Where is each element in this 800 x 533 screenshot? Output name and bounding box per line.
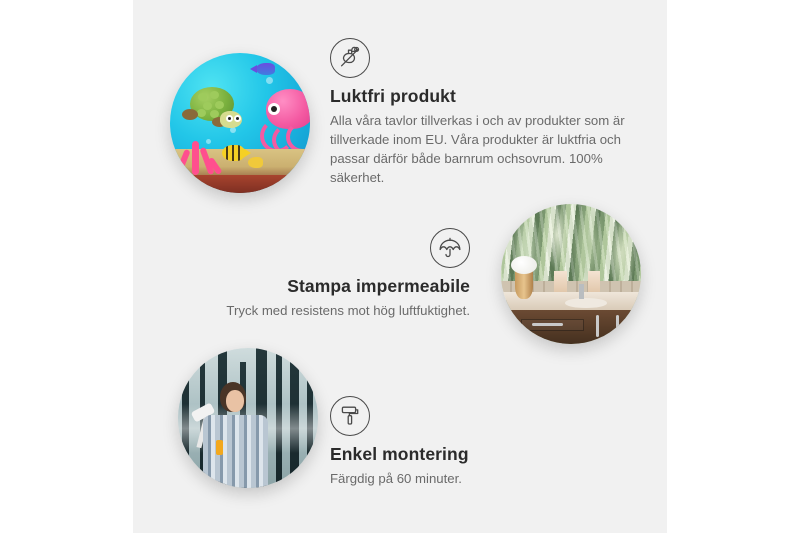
bathroom-artwork	[501, 204, 641, 344]
umbrella-icon	[430, 228, 470, 268]
ocean-artwork	[170, 53, 310, 193]
feature-odor-free: Luktfri produkt Alla våra tavlor tillver…	[330, 38, 626, 188]
coral-illustration	[174, 135, 220, 175]
feature-waterproof-print: Stampa impermeabile Tryck med resistens …	[180, 228, 470, 320]
paint-roller-icon	[330, 396, 370, 436]
octopus-illustration	[258, 89, 310, 149]
image-bathroom-leaf-wallpaper[interactable]	[501, 204, 641, 344]
feature-description: Alla våra tavlor tillverkas i och av pro…	[330, 111, 626, 188]
feature-title: Stampa impermeabile	[180, 276, 470, 297]
promo-banner: Luktfri produkt Alla våra tavlor tillver…	[0, 0, 800, 533]
turtle-illustration	[182, 87, 240, 129]
image-ocean-kids-mural[interactable]	[170, 53, 310, 193]
feature-description: Tryck med resistens mot hög luftfuktighe…	[180, 301, 470, 320]
forest-artwork	[178, 348, 318, 488]
feature-title: Enkel montering	[330, 444, 590, 465]
feature-title: Luktfri produkt	[330, 86, 626, 107]
no-perfume-spray-icon	[330, 38, 370, 78]
feature-easy-mounting: Enkel montering Färgdig på 60 minuter.	[330, 396, 590, 488]
feature-description: Färgdig på 60 minuter.	[330, 469, 590, 488]
image-woman-paint-roller-forest[interactable]	[178, 348, 318, 488]
